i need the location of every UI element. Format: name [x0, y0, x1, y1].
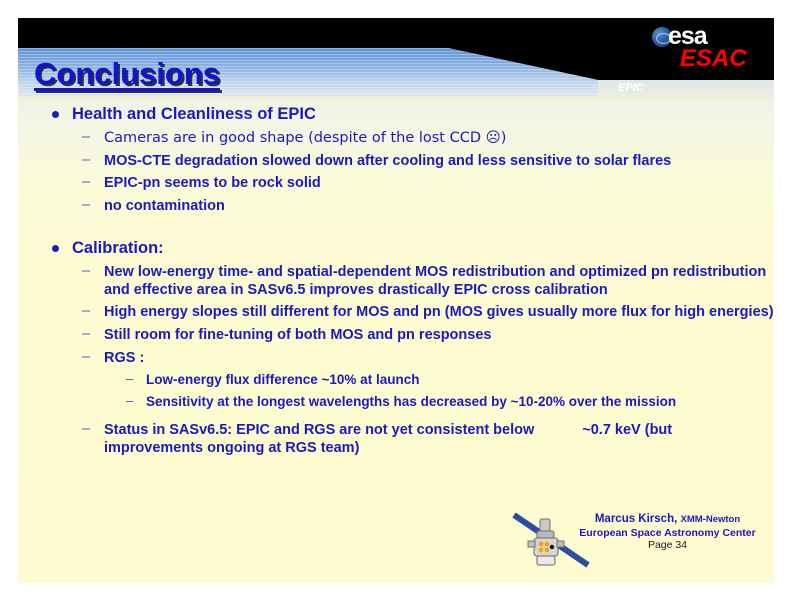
slide-canvas: esa ESAC EPIC Conclusions Health and Cle…	[18, 18, 774, 583]
dash-icon: –	[126, 371, 134, 387]
sub-sub-bullet-sensitivity-text: Sensitivity at the longest wavelengths h…	[146, 394, 676, 409]
bullet-dot-icon	[52, 245, 59, 252]
slide-body: Health and Cleanliness of EPIC – Cameras…	[18, 104, 774, 458]
dash-icon: –	[82, 263, 90, 281]
sub-bullet-mos-cte-text: MOS-CTE degradation slowed down after co…	[104, 153, 671, 169]
footer-page-number: Page 34	[575, 539, 760, 551]
sub-bullet-no-contamination-text: no contamination	[104, 198, 225, 214]
dash-icon: –	[82, 174, 90, 192]
sub-bullet-high-energy-slopes-text: High energy slopes still different for M…	[104, 304, 774, 320]
sub-sub-bullet-low-energy-flux: – Low-energy flux difference ~10% at lau…	[122, 372, 774, 388]
sub-bullet-fine-tuning-text: Still room for fine-tuning of both MOS a…	[104, 327, 491, 343]
sub-bullet-status: – Status in SASv6.5: EPIC and RGS are no…	[76, 422, 774, 457]
sub-bullet-no-contamination: – no contamination	[76, 198, 774, 216]
sub-bullet-high-energy-slopes: – High energy slopes still different for…	[76, 304, 774, 322]
footer-author-line: Marcus Kirsch, XMM-Newton	[575, 513, 760, 527]
sub-bullet-new-low-energy: – New low-energy time- and spatial-depen…	[76, 264, 774, 299]
dash-icon: –	[82, 326, 90, 344]
page-title: Conclusions	[34, 56, 220, 92]
sub-bullet-fine-tuning: – Still room for fine-tuning of both MOS…	[76, 327, 774, 345]
sub-bullet-epic-pn: – EPIC-pn seems to be rock solid	[76, 175, 774, 193]
dash-icon: –	[82, 197, 90, 215]
dash-icon: –	[126, 393, 134, 409]
esa-esac-logo: esa ESAC	[650, 22, 762, 74]
dash-icon: –	[82, 303, 90, 321]
bullet-calibration-heading: Calibration:	[36, 238, 774, 259]
sub-bullet-epic-pn-text: EPIC-pn seems to be rock solid	[104, 175, 321, 191]
sub-sub-bullet-sensitivity: – Sensitivity at the longest wavelengths…	[122, 394, 774, 410]
bullet-calibration-heading-text: Calibration:	[72, 239, 164, 257]
footer-organisation: European Space Astronomy Center	[575, 527, 760, 539]
dash-icon: –	[82, 349, 90, 367]
sub-bullet-cameras-text: Cameras are in good shape (despite of th…	[104, 130, 506, 146]
sub-bullet-rgs: – RGS :	[76, 350, 774, 368]
epic-tag-label: EPIC	[618, 82, 644, 94]
bullet-dot-icon	[52, 111, 59, 118]
sub-bullet-rgs-text: RGS :	[104, 350, 144, 366]
bullet-health-heading: Health and Cleanliness of EPIC	[36, 104, 774, 125]
footer-credit: Marcus Kirsch, XMM-Newton European Space…	[575, 513, 760, 551]
footer-author: Marcus Kirsch,	[595, 513, 677, 525]
slide-footer: Marcus Kirsch, XMM-Newton European Space…	[510, 511, 760, 569]
sub-bullet-mos-cte: – MOS-CTE degradation slowed down after …	[76, 153, 774, 171]
dash-icon: –	[82, 129, 90, 147]
dash-icon: –	[82, 421, 90, 439]
footer-mission: XMM-Newton	[681, 514, 741, 525]
bullet-health-heading-text: Health and Cleanliness of EPIC	[72, 105, 316, 123]
esac-wordmark: ESAC	[680, 45, 747, 73]
dash-icon: –	[82, 152, 90, 170]
sub-bullet-new-low-energy-text: New low-energy time- and spatial-depende…	[104, 264, 766, 298]
sub-sub-bullet-low-energy-flux-text: Low-energy flux difference ~10% at launc…	[146, 372, 419, 387]
sub-bullet-cameras: – Cameras are in good shape (despite of …	[76, 130, 774, 148]
sub-bullet-status-text-a: Status in SASv6.5: EPIC and RGS are not …	[104, 422, 534, 438]
